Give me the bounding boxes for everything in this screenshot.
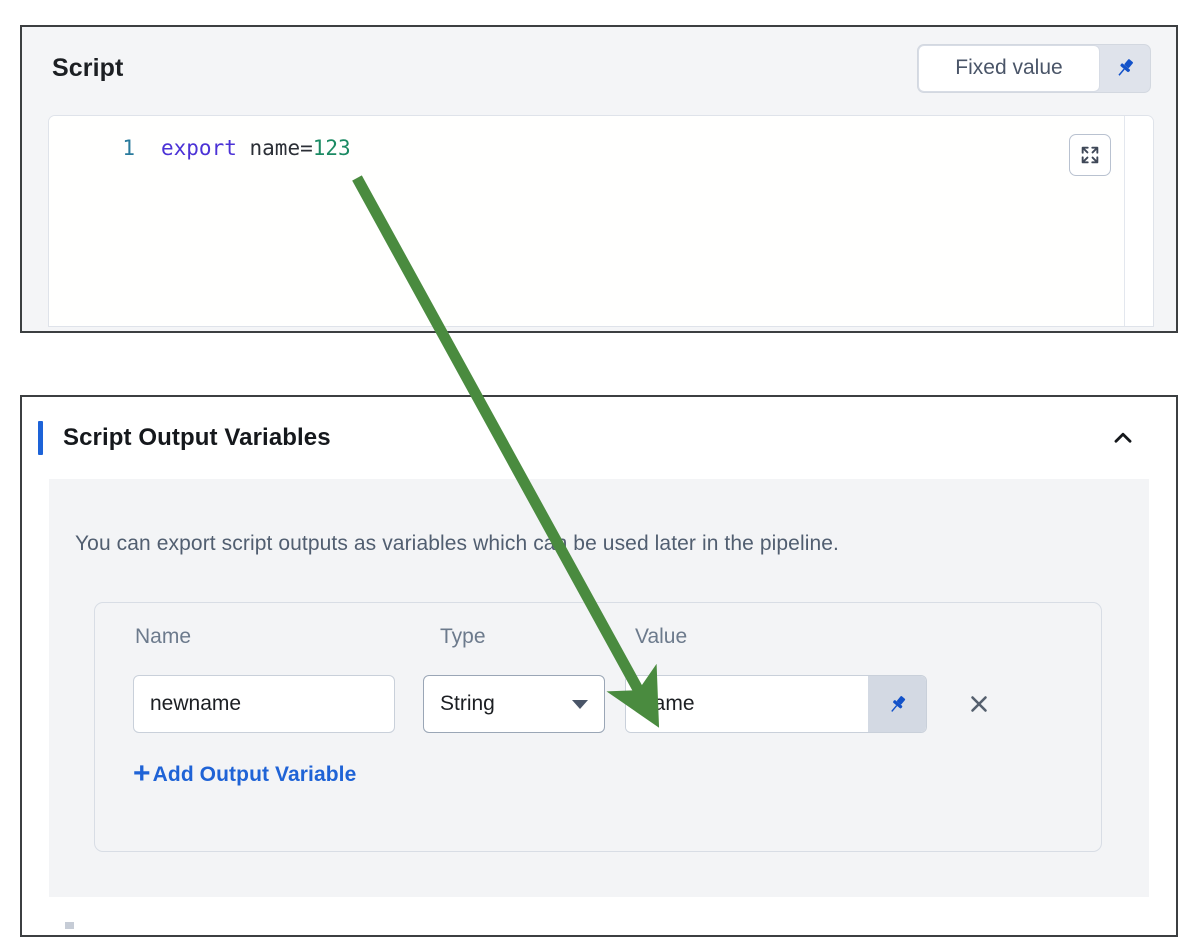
value-mode-group: Fixed value xyxy=(918,45,1150,92)
script-editor-pane[interactable]: 1 export name=123 xyxy=(49,116,1125,326)
variable-name-input[interactable]: newname xyxy=(133,675,395,733)
pin-icon[interactable] xyxy=(868,676,926,732)
page-title: Script xyxy=(52,54,123,83)
accent-bar xyxy=(38,421,43,455)
table-row: newname String name xyxy=(95,675,1101,733)
script-panel-header: Script Fixed value xyxy=(22,27,1176,109)
line-number: 1 xyxy=(49,136,135,160)
add-output-variable-label: Add Output Variable xyxy=(153,763,357,787)
plus-icon: + xyxy=(133,759,151,789)
column-header-value: Value xyxy=(635,625,687,649)
variable-value-group: name xyxy=(625,675,927,733)
variable-type-select[interactable]: String xyxy=(423,675,605,733)
variable-value-input[interactable]: name xyxy=(626,676,868,732)
section-description: You can export script outputs as variabl… xyxy=(75,532,839,556)
column-header-name: Name xyxy=(135,625,191,649)
token-number: 123 xyxy=(313,136,351,160)
section-title-wrap: Script Output Variables xyxy=(22,397,331,479)
script-panel: Script Fixed value 1 xyxy=(20,25,1178,333)
code-text: export name=123 xyxy=(161,136,351,160)
vertical-scrollbar[interactable] xyxy=(1124,116,1153,326)
token-variable-name: name= xyxy=(250,136,313,160)
column-header-type: Type xyxy=(440,625,486,649)
chevron-up-icon[interactable] xyxy=(1106,421,1140,455)
variable-type-value: String xyxy=(440,692,495,716)
section-body: You can export script outputs as variabl… xyxy=(49,479,1149,897)
section-title: Script Output Variables xyxy=(63,424,331,452)
script-editor[interactable]: 1 export name=123 xyxy=(48,115,1154,327)
output-variables-card: Name Type Value newname String name xyxy=(94,602,1102,852)
script-output-variables-panel: Script Output Variables You can export s… xyxy=(20,395,1178,937)
fixed-value-button[interactable]: Fixed value xyxy=(918,45,1100,92)
pin-icon[interactable] xyxy=(1100,45,1150,92)
code-line: 1 export name=123 xyxy=(49,133,351,163)
add-output-variable-button[interactable]: + Add Output Variable xyxy=(133,761,356,789)
chevron-down-icon xyxy=(572,700,588,709)
expand-icon[interactable] xyxy=(1069,134,1111,176)
close-icon[interactable] xyxy=(957,675,1001,733)
section-header[interactable]: Script Output Variables xyxy=(22,397,1176,479)
token-keyword: export xyxy=(161,136,237,160)
column-headers: Name Type Value xyxy=(95,625,1101,655)
panel-bottom-stub xyxy=(65,922,74,929)
token-variable xyxy=(237,136,250,160)
screenshot-root: Script Fixed value 1 xyxy=(0,0,1198,950)
